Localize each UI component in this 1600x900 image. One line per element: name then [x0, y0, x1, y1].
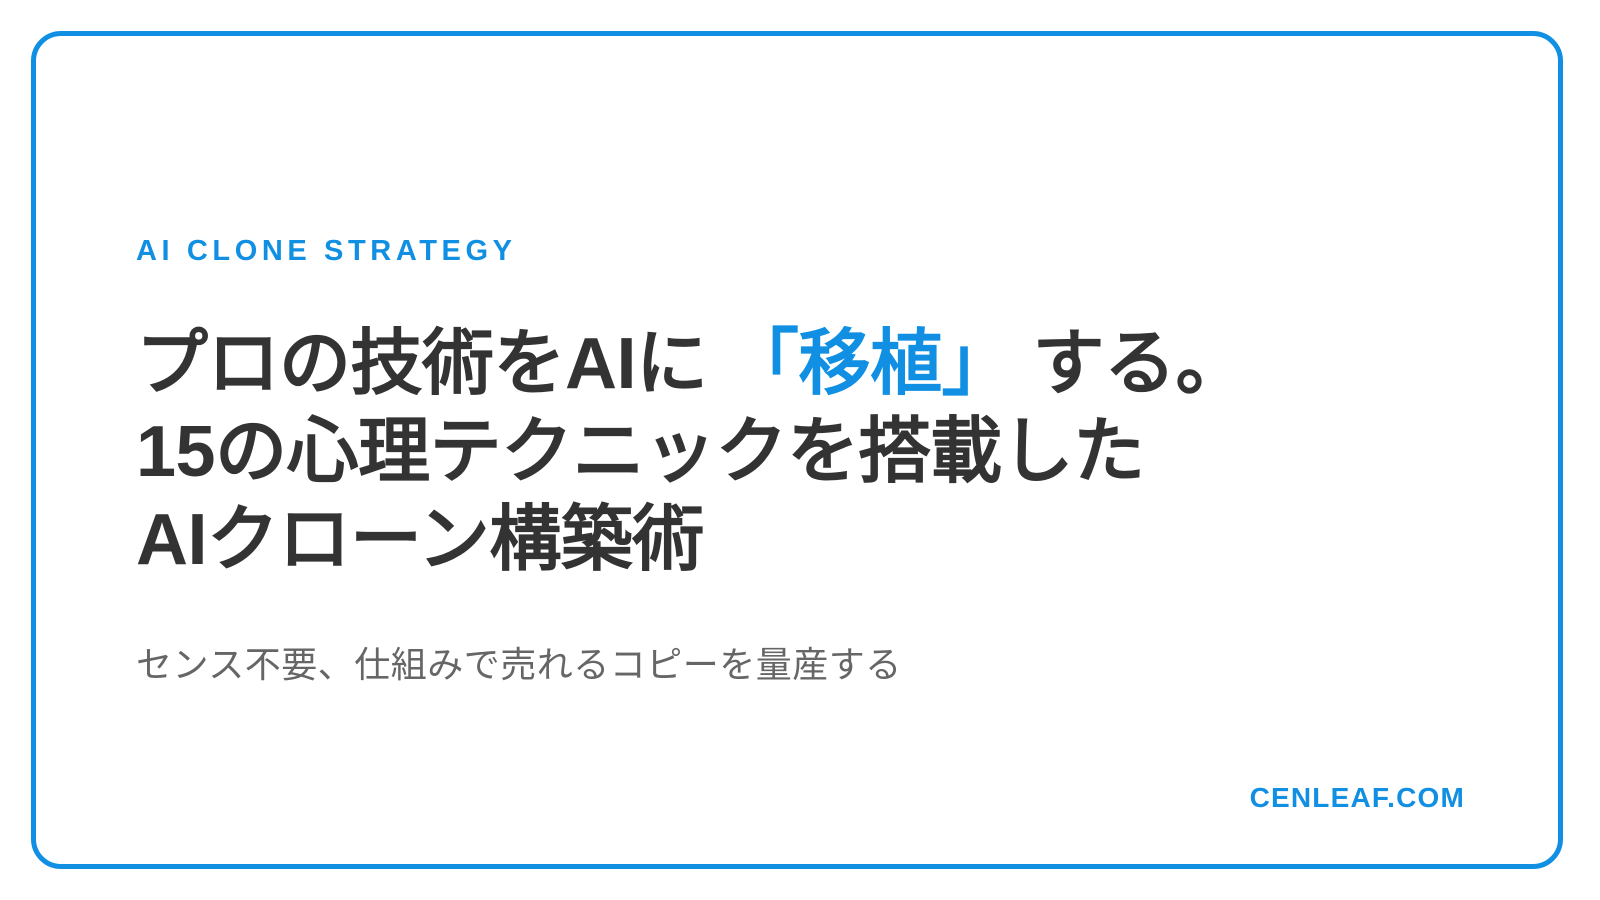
page-title: プロの技術をAIに 「移植」 する。 15の心理テクニックを搭載した AIクロー…: [136, 320, 1496, 584]
headline-line-3: AIクローン構築術: [136, 496, 1496, 584]
headline-accent-ishoku: 「移植」: [727, 324, 1013, 404]
card-frame: AI CLONE STRATEGY プロの技術をAIに 「移植」 する。 15の…: [31, 31, 1563, 869]
content-block: AI CLONE STRATEGY プロの技術をAIに 「移植」 する。 15の…: [136, 236, 1496, 690]
brand-watermark: CENLEAF.COM: [1250, 784, 1465, 812]
eyebrow-label: AI CLONE STRATEGY: [136, 236, 1496, 268]
headline-line-1: プロの技術をAIに 「移植」 する。: [136, 320, 1496, 408]
headline-line-1-part-2: する。: [1013, 324, 1247, 404]
subtitle-text: センス不要、仕組みで売れるコピーを量産する: [136, 640, 1496, 690]
headline-line-1-part-1: プロの技術をAIに: [136, 324, 727, 404]
slide-canvas: AI CLONE STRATEGY プロの技術をAIに 「移植」 する。 15の…: [0, 0, 1600, 900]
headline-line-2: 15の心理テクニックを搭載した: [136, 408, 1496, 496]
